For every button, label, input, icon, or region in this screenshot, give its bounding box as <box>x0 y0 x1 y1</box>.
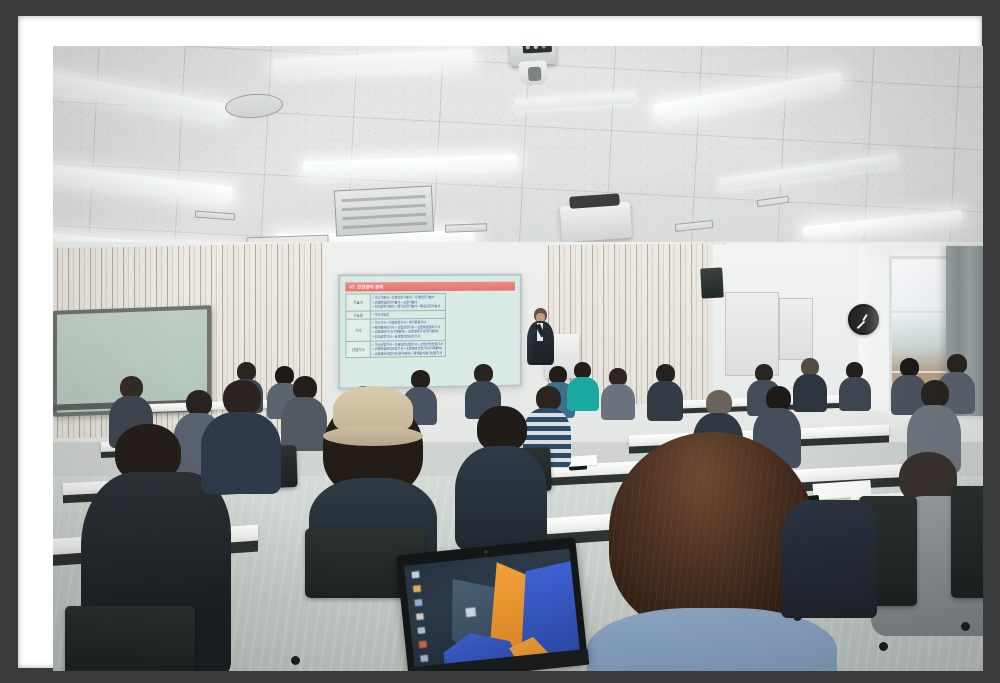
slide-item: • 소방설비산업기사(전기분야) • 화재감식평가산업기사 <box>373 351 443 356</box>
audience-member <box>839 362 871 410</box>
desktop-icon[interactable] <box>419 654 429 663</box>
slide-row-category: 기사 <box>346 319 371 341</box>
photo-mat: 07. 안전관리 분야 기술사 • 가스기술사 • 건설안전기술사 • 기계안전… <box>18 16 982 668</box>
slide-header: 07. 안전관리 분야 <box>345 282 515 292</box>
slide-item: • 인간공학기사 • 농작업안전보건기사 <box>373 334 443 339</box>
desktop-icon-selected[interactable] <box>465 607 477 618</box>
audience-member <box>567 362 599 410</box>
chair-caster <box>291 656 300 665</box>
slide-row-items: • 가스기사 • 건설안전기사 • 대기환경기사 • 폐기물처리기사 • 산업안… <box>370 319 445 341</box>
torso <box>601 384 635 420</box>
table-row: 기사 • 가스기사 • 건설안전기사 • 대기환경기사 • 폐기물처리기사 • … <box>346 319 445 341</box>
office-chair <box>65 606 195 671</box>
slide-item: • 인간공학기술사 • 전기안전기술사 • 화공안전기술사 <box>373 304 443 309</box>
projector-bracket <box>569 193 620 208</box>
head <box>223 380 261 416</box>
office-chair <box>951 486 983 598</box>
chair-caster <box>961 622 970 631</box>
projector-lens <box>518 60 547 85</box>
projector-control-panel <box>522 46 552 54</box>
desktop-icon[interactable] <box>414 598 424 607</box>
slide-item: • 가스기능장 <box>373 312 443 317</box>
wall-speaker <box>700 267 724 298</box>
slide-row-category: 기술사 <box>346 294 371 311</box>
slide-row-items: • 가스기술사 • 건설안전기술사 • 기계안전기술사 • 산업위생관리기술사 … <box>370 293 445 310</box>
ceiling-projector-secondary <box>560 202 632 243</box>
hat-brim <box>323 426 423 446</box>
lecture-hall-photo: 07. 안전관리 분야 기술사 • 가스기술사 • 건설안전기술사 • 기계안전… <box>53 46 983 671</box>
desktop-icon[interactable] <box>417 626 427 635</box>
wall-cabinet <box>779 298 813 360</box>
head <box>947 354 967 374</box>
torso <box>781 500 877 618</box>
torso <box>201 412 281 494</box>
torso <box>455 446 547 550</box>
audience-member <box>781 476 877 616</box>
torso <box>567 377 599 411</box>
audience-member <box>201 380 281 490</box>
slide-row-category: 산업기사 <box>346 341 371 358</box>
slide-row-category: 기능장 <box>346 311 371 320</box>
ceiling-vent <box>445 223 487 232</box>
table-row: 산업기사 • 가스산업기사 • 건설안전산업기사 • 산업안전산업기사 • 산업… <box>346 340 445 358</box>
audience-member <box>455 406 547 546</box>
ceiling-ac-cassette <box>334 185 434 236</box>
torso <box>839 377 871 411</box>
desktop-icon[interactable] <box>412 584 422 593</box>
slide-row-items: • 가스산업기사 • 건설안전산업기사 • 산업안전산업기사 • 산업위생관리산… <box>370 340 445 358</box>
wall-clock <box>848 304 879 335</box>
chair-caster <box>879 642 888 651</box>
torso <box>647 381 683 421</box>
desktop-icon[interactable] <box>411 570 421 579</box>
audience-member <box>601 368 635 418</box>
head <box>921 380 949 408</box>
desktop-icon[interactable] <box>415 612 425 621</box>
ceiling-projector <box>509 46 556 66</box>
audience-member <box>647 364 683 418</box>
desktop-icon[interactable] <box>418 640 428 649</box>
slide-table: 기술사 • 가스기술사 • 건설안전기술사 • 기계안전기술사 • 산업위생관리… <box>345 293 445 359</box>
table-row: 기술사 • 가스기술사 • 건설안전기술사 • 기계안전기술사 • 산업위생관리… <box>346 293 445 311</box>
photo-frame: 07. 안전관리 분야 기술사 • 가스기술사 • 건설안전기술사 • 기계안전… <box>0 0 1000 683</box>
